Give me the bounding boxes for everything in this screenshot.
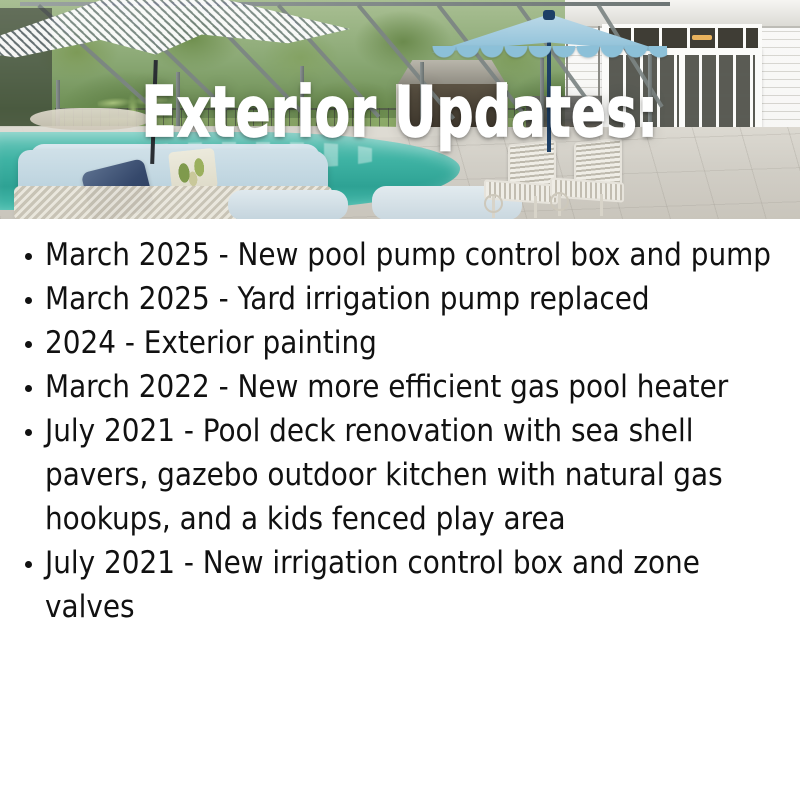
list-item: July 2021 - Pool deck renovation with se… <box>25 409 786 541</box>
exterior-updates-card: Exterior Updates: March 2025 - New pool … <box>0 0 800 800</box>
list-item: July 2021 - New irrigation control box a… <box>25 541 786 629</box>
lounge-leg <box>534 196 537 218</box>
updates-list: March 2025 - New pool pump control box a… <box>0 219 800 629</box>
list-item: March 2022 - New more efficient gas pool… <box>25 365 786 409</box>
ottoman-front <box>228 190 348 219</box>
list-item: March 2025 - New pool pump control box a… <box>25 233 786 277</box>
lounge-leg <box>600 194 603 216</box>
list-item: March 2025 - Yard irrigation pump replac… <box>25 277 786 321</box>
page-title: Exterior Updates: <box>32 80 768 145</box>
lounge-wheel <box>484 194 503 213</box>
list-item: 2024 - Exterior painting <box>25 321 786 365</box>
blue-umbrella-finial <box>543 10 555 20</box>
blue-umbrella-scalloped-edge <box>432 46 667 68</box>
lounge-wheel <box>550 192 569 211</box>
interior-light <box>692 35 712 40</box>
hero-photo: Exterior Updates: <box>0 0 800 219</box>
updates-section: March 2025 - New pool pump control box a… <box>0 219 800 800</box>
